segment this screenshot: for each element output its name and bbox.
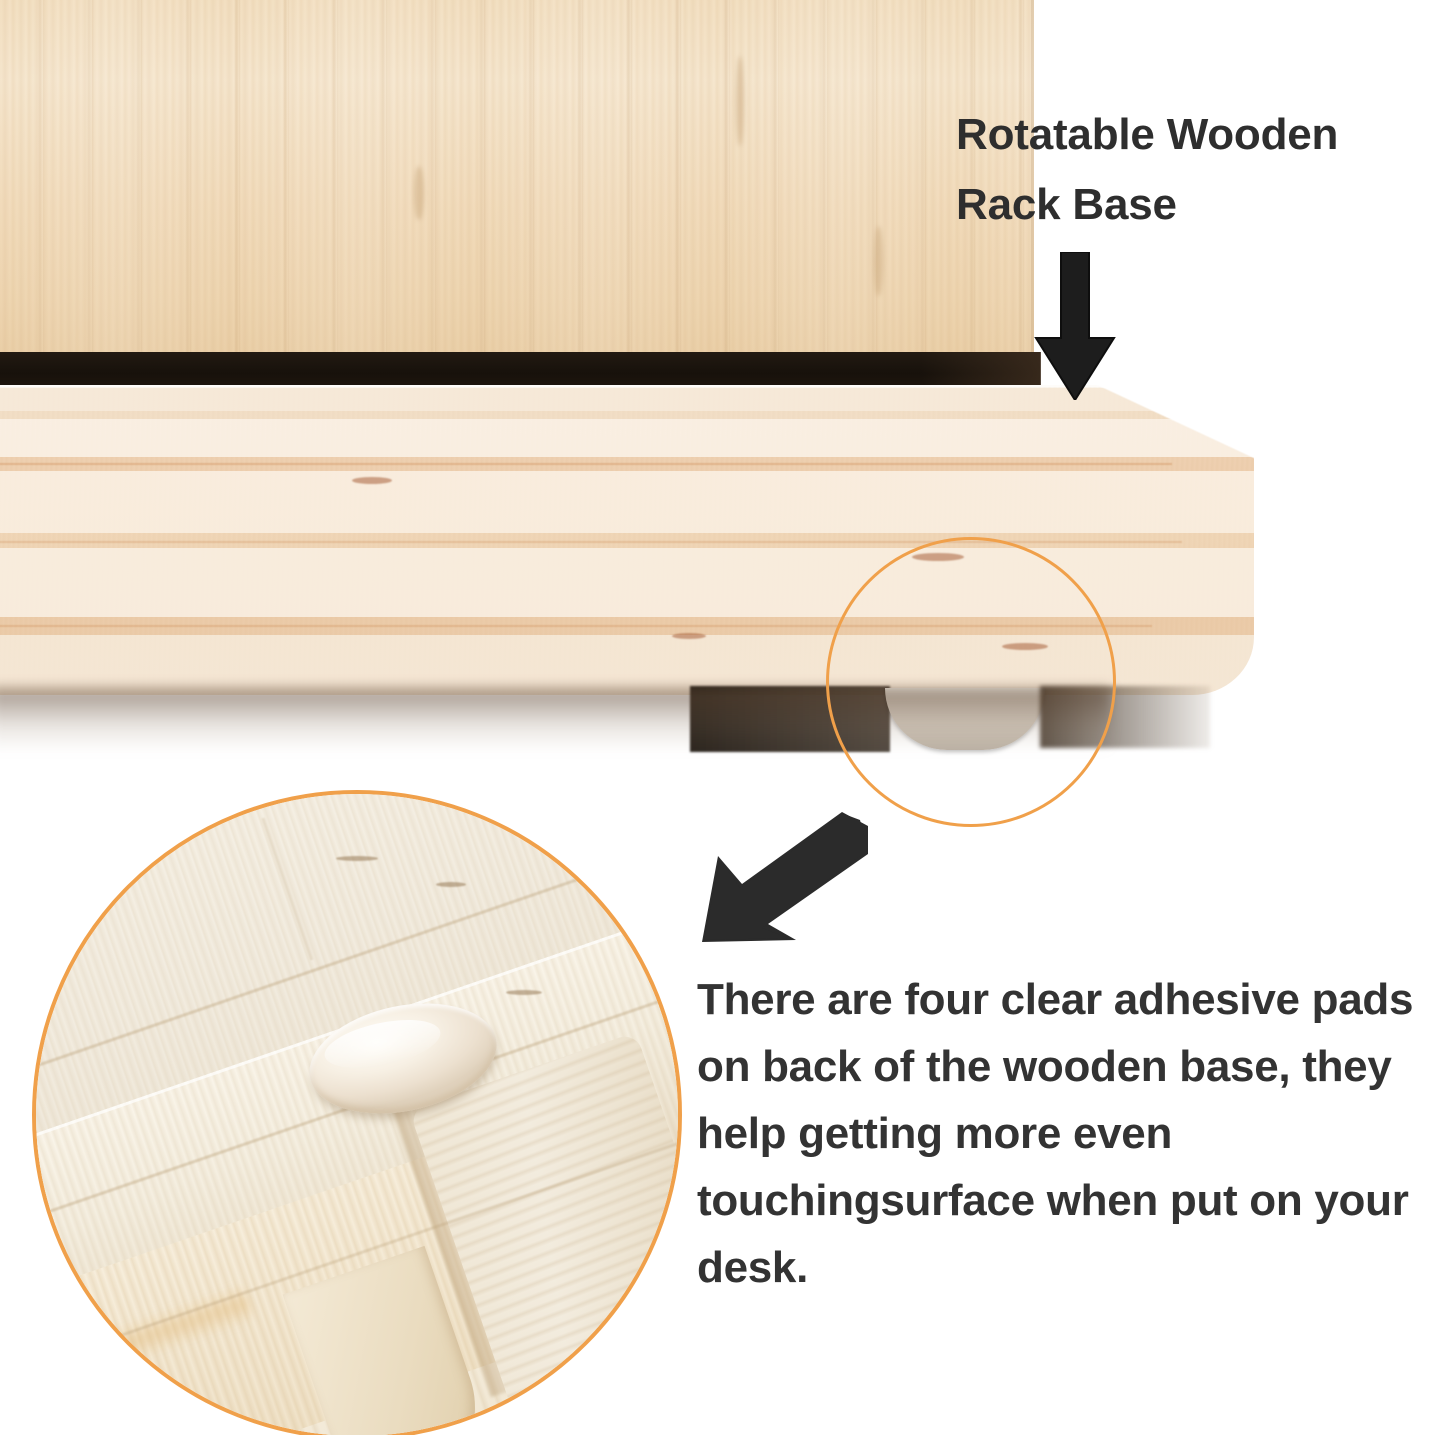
- wood-flaw: [672, 633, 706, 639]
- callout-circle-pad: [826, 537, 1116, 827]
- inset-wood-nick: [506, 990, 542, 995]
- inset-wood-nick: [336, 856, 378, 861]
- wooden-rack-block: [0, 0, 1034, 376]
- infographic-canvas: Rotatable Wooden Rack Base There are fou…: [0, 0, 1445, 1435]
- wood-knot: [414, 166, 424, 220]
- page-title: Rotatable Wooden Rack Base: [956, 100, 1436, 241]
- description-text: There are four clear adhesive pads on ba…: [697, 967, 1445, 1301]
- inset-wood-nick: [436, 882, 466, 887]
- arrow-to-base-icon: [1028, 252, 1122, 400]
- wood-knot: [874, 226, 883, 296]
- magnified-inset-circle: [32, 790, 682, 1435]
- wood-knot: [736, 56, 744, 146]
- magnified-inset-content: [36, 794, 678, 1435]
- arrow-to-inset-icon: [692, 812, 868, 944]
- wood-flaw: [352, 477, 392, 484]
- wood-grain-line: [0, 463, 1172, 465]
